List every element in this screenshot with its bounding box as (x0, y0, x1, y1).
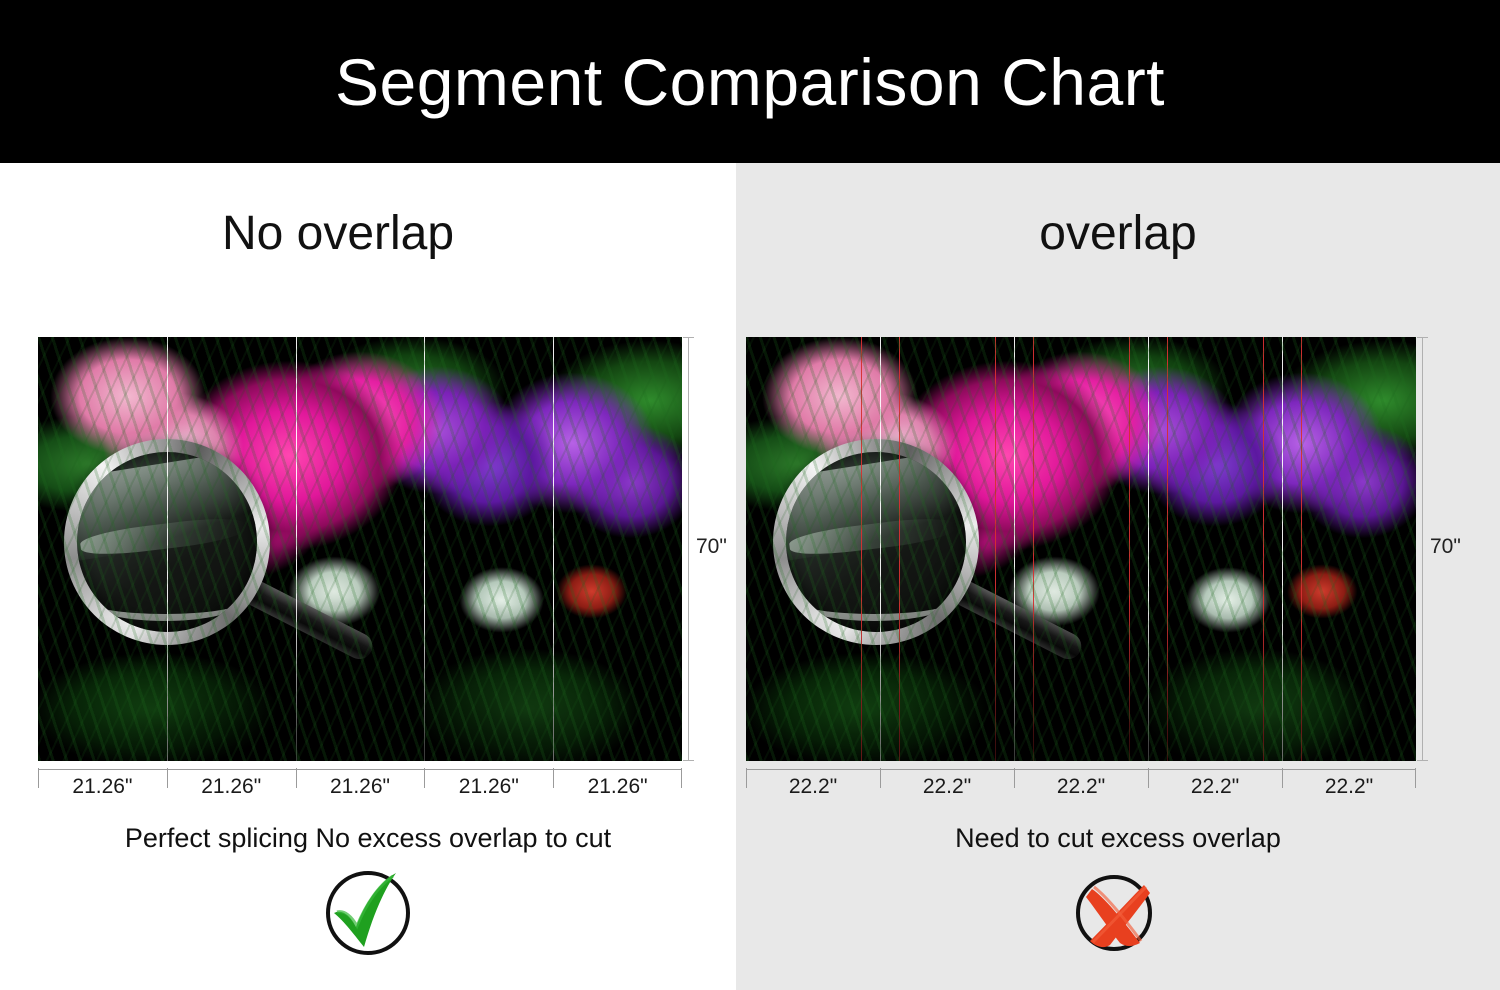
segment-width-label: 21.26" (167, 775, 296, 799)
magnifier-handle (917, 560, 1086, 663)
height-dimension-cap-bottom (683, 760, 694, 761)
magnifier-lens-sheen (786, 452, 966, 562)
check-mark-icon (320, 865, 416, 961)
segment-width-label: 21.26" (553, 775, 682, 799)
segment-seam (424, 337, 425, 761)
panel-overlap: overlap (736, 163, 1500, 990)
caption-overlap: Need to cut excess overlap (736, 823, 1500, 854)
height-label-no-overlap: 70" (696, 535, 727, 559)
floral-artwork-overlap (746, 337, 1416, 761)
panel-no-overlap: No overlap (0, 163, 736, 990)
height-dimension-line (1422, 337, 1423, 761)
overlap-mark (1263, 337, 1264, 761)
segment-seam (1148, 337, 1149, 761)
overlap-mark (1129, 337, 1130, 761)
segment-seam (1282, 337, 1283, 761)
page-header: Segment Comparison Chart (0, 0, 1500, 163)
panel-heading-no-overlap: No overlap (0, 210, 736, 258)
overlap-mark (861, 337, 862, 761)
magnifier-handle (208, 560, 377, 663)
height-label-overlap: 70" (1430, 535, 1461, 559)
segment-seam (880, 337, 881, 761)
segment-seam (167, 337, 168, 761)
figure-overlap: 70" 22.2" 22.2" 22.2" 22.2" 22.2" (746, 337, 1416, 761)
floral-artwork-no-overlap (38, 337, 682, 761)
comparison-panels: No overlap (0, 163, 1500, 990)
height-dimension-line (688, 337, 689, 761)
segment-width-label: 22.2" (880, 775, 1014, 799)
height-dimension-cap-top (683, 337, 694, 338)
height-dimension-cap-bottom (1417, 760, 1428, 761)
overlap-mark (995, 337, 996, 761)
segment-width-label: 21.26" (424, 775, 553, 799)
width-labels-overlap: 22.2" 22.2" 22.2" 22.2" 22.2" (746, 775, 1416, 799)
width-dimension-line (746, 769, 1416, 770)
caption-no-overlap: Perfect splicing No excess overlap to cu… (0, 823, 736, 854)
segment-seam (553, 337, 554, 761)
magnifier-lens-arc (797, 581, 952, 621)
segment-width-label: 22.2" (1282, 775, 1416, 799)
magnifier-neck (195, 558, 244, 603)
cross-mark-icon (1070, 863, 1166, 959)
overlap-mark (1301, 337, 1302, 761)
figure-no-overlap: 70" 21.26" 21.26" 21.26" 21.26" 2 (38, 337, 682, 761)
segment-width-label: 21.26" (38, 775, 167, 799)
segment-width-label: 22.2" (1014, 775, 1148, 799)
magnifier-neck (904, 558, 953, 603)
verdict-overlap (736, 863, 1500, 959)
magnifier-icon (773, 439, 979, 645)
verdict-no-overlap (0, 865, 736, 961)
segment-width-label: 22.2" (746, 775, 880, 799)
overlap-mark (1033, 337, 1034, 761)
segment-seam (296, 337, 297, 761)
page-root: Segment Comparison Chart No overlap (0, 0, 1500, 990)
width-dimension-line (38, 769, 682, 770)
magnifier-lens-streak (79, 514, 246, 559)
panel-heading-overlap: overlap (736, 210, 1500, 258)
segment-seam (1014, 337, 1015, 761)
segment-width-label: 21.26" (296, 775, 425, 799)
overlap-mark (899, 337, 900, 761)
height-dimension-cap-top (1417, 337, 1428, 338)
page-title: Segment Comparison Chart (335, 49, 1165, 115)
width-labels-no-overlap: 21.26" 21.26" 21.26" 21.26" 21.26" (38, 775, 682, 799)
magnifier-lens-streak (788, 514, 955, 559)
segment-width-label: 22.2" (1148, 775, 1282, 799)
magnifier-ring (773, 439, 979, 645)
magnifier-lens (786, 452, 966, 632)
overlap-mark (1167, 337, 1168, 761)
magnifier-lens-arc (88, 581, 243, 621)
